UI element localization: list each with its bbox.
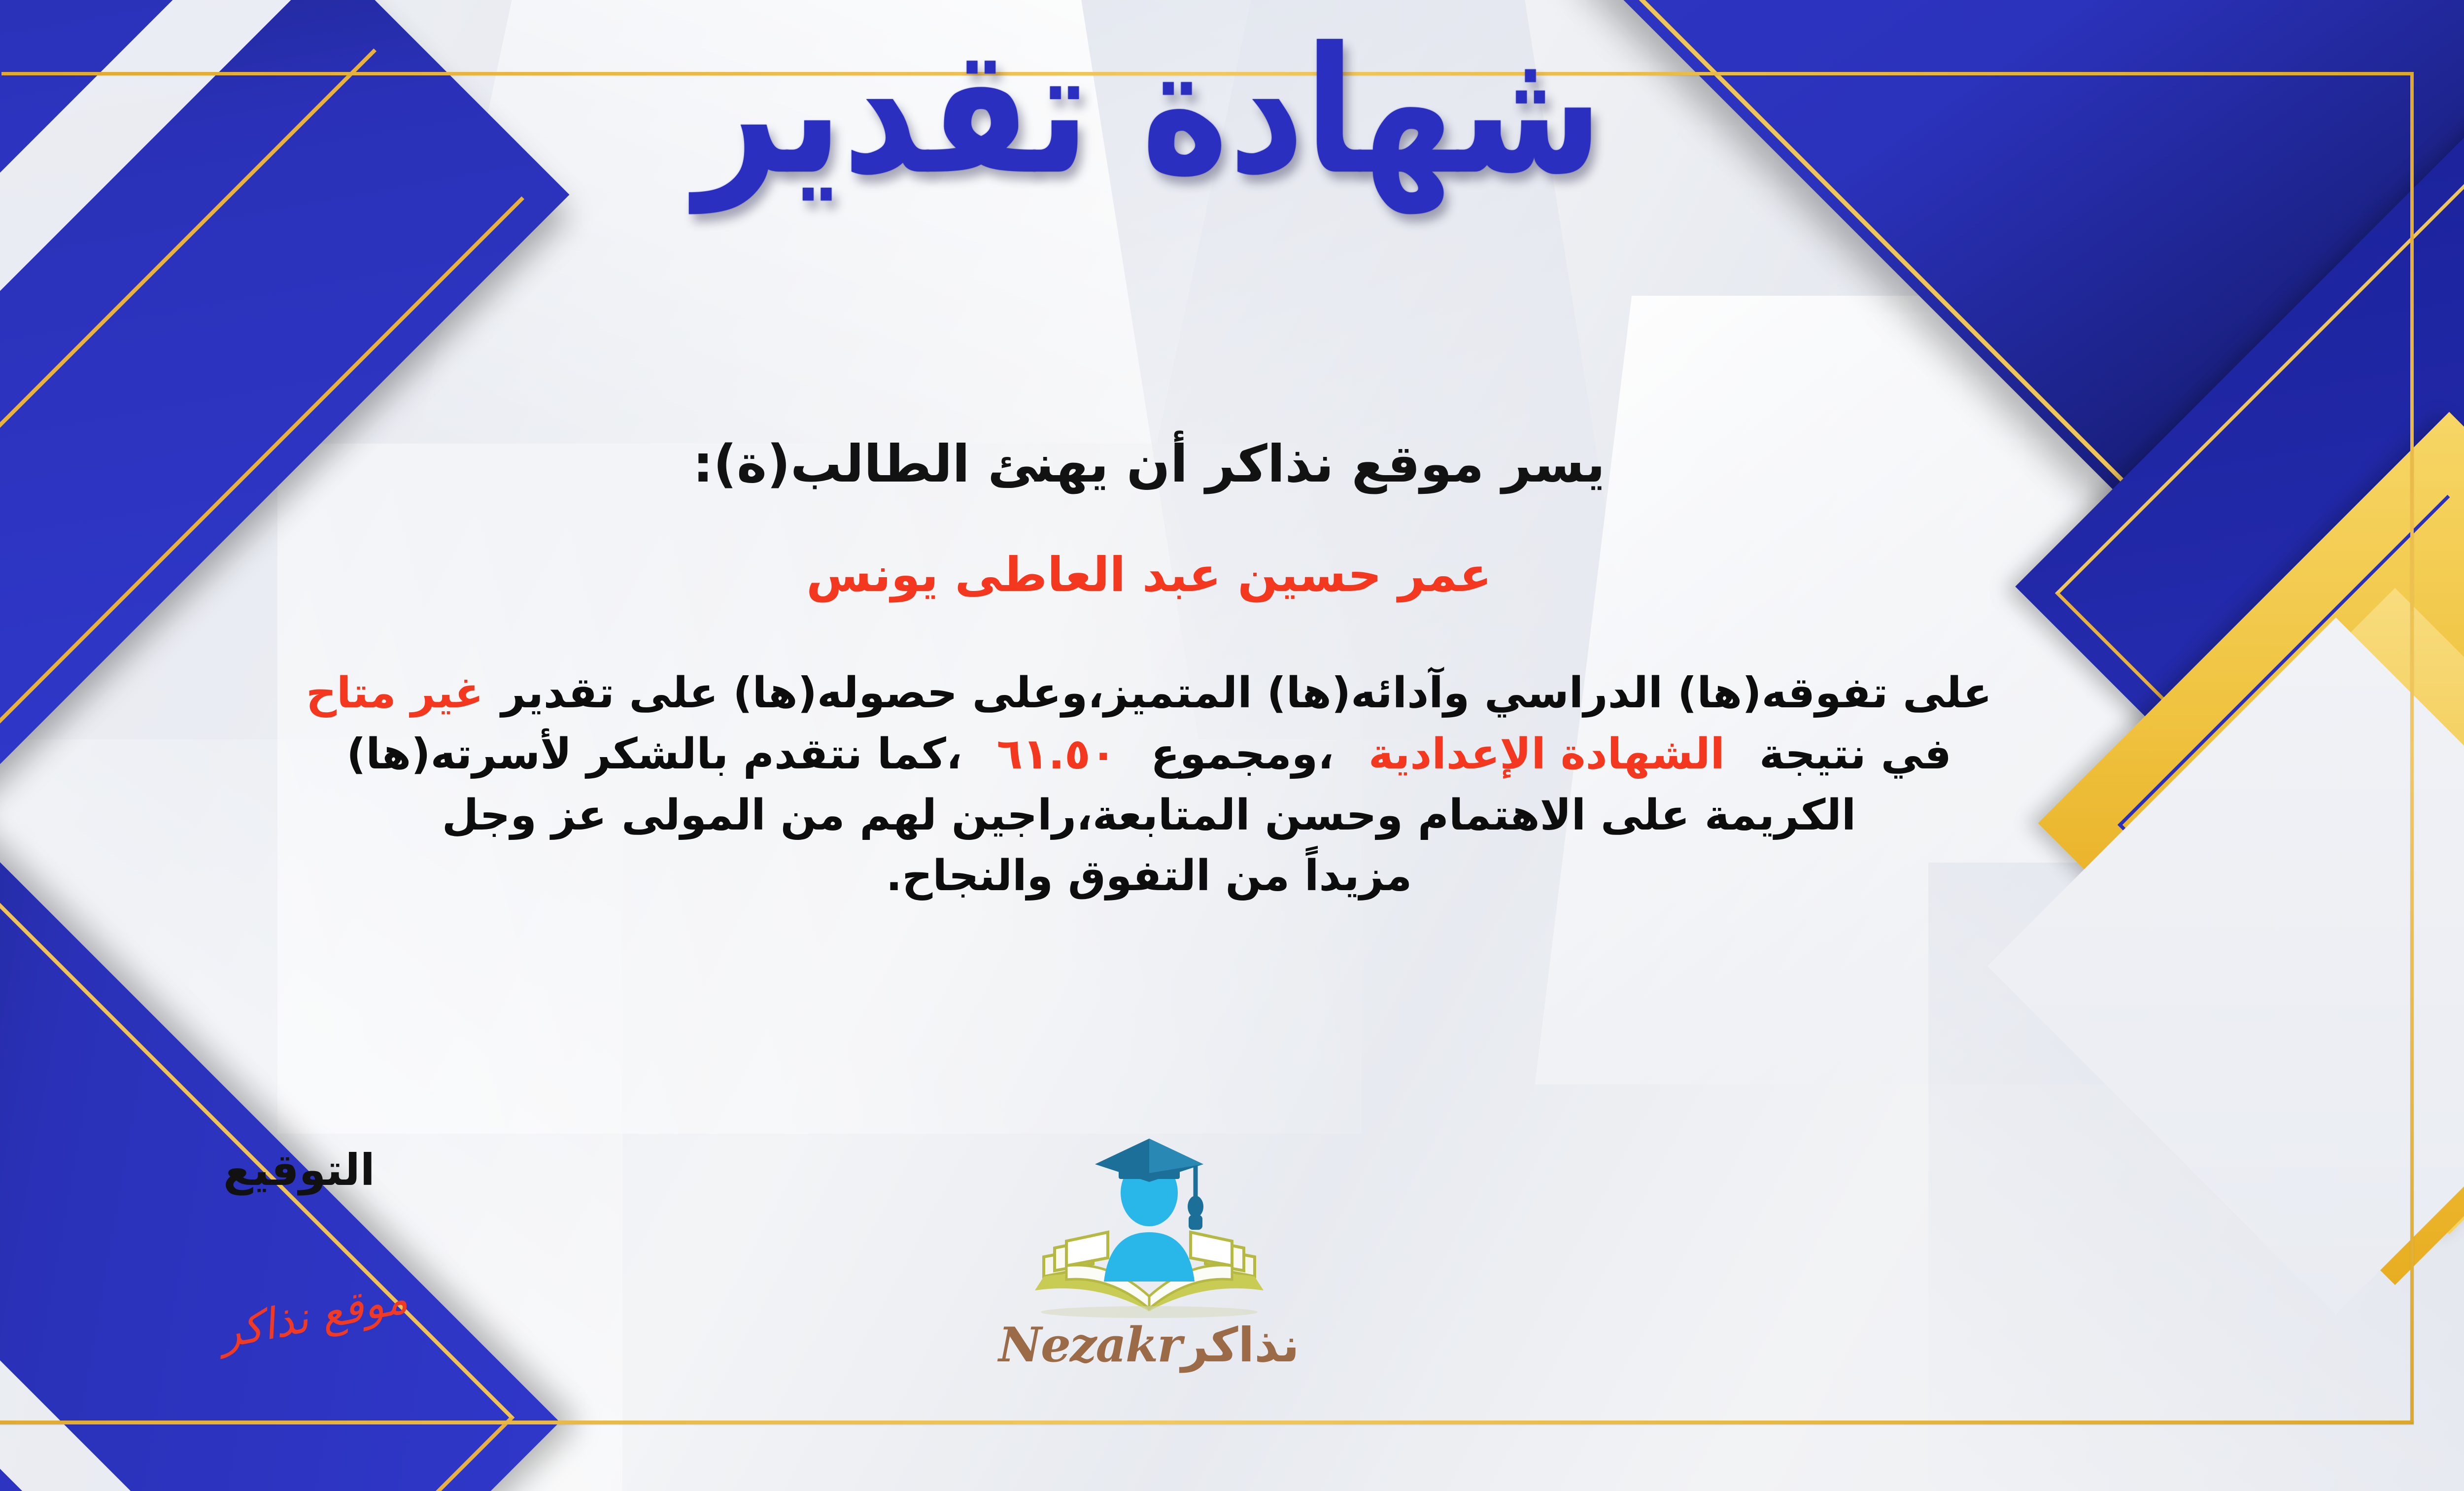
site-logo: نذاكرNezakr: [962, 1134, 1336, 1373]
body-line-thanks: الكريمة على الاهتمام وحسن المتابعة،راجين…: [0, 785, 2390, 846]
body-line-result: في نتيجةالشهادة الإعدادية،ومجموع٦١.٥٠،كم…: [0, 724, 2390, 785]
certificate-body: على تفوقه(ها) الدراسي وآدائه(ها) المتميز…: [0, 663, 2390, 907]
result-prefix-text: في نتيجة: [1759, 729, 1951, 779]
graduate-book-logo-icon: [996, 1134, 1302, 1326]
logo-wordmark: نذاكرNezakr: [962, 1317, 1336, 1373]
total-label-text: ،ومجموع: [1151, 729, 1334, 779]
thanks-prefix-text: ،كما نتقدم بالشكر لأسرته(ها): [346, 729, 962, 779]
body-line-achievement: على تفوقه(ها) الدراسي وآدائه(ها) المتميز…: [0, 663, 2390, 724]
student-name: عمر حسين عبد العاطى يونس: [0, 547, 2464, 602]
body-line-wishes: مزيداً من التفوق والنجاح.: [0, 846, 2390, 907]
achievement-text: على تفوقه(ها) الدراسي وآدائه(ها) المتميز…: [501, 668, 1992, 718]
logo-arabic-text: نذاكر: [1181, 1318, 1300, 1373]
signature-label: التوقيع: [223, 1144, 375, 1195]
total-score-value: ٦١.٥٠: [997, 729, 1117, 779]
grade-value: غير متاح: [306, 668, 483, 718]
certificate-title: شهادة تقدير: [0, 20, 2464, 203]
congratulation-intro-text: يسر موقع نذاكر أن يهنئ الطالب(ة):: [0, 434, 2464, 494]
handwritten-signature: موقع نذاكر: [215, 1274, 411, 1358]
certificate-name-value: الشهادة الإعدادية: [1369, 729, 1725, 779]
logo-latin-text: Nezakr: [998, 1317, 1181, 1373]
certificate-document: شهادة تقدير يسر موقع نذاكر أن يهنئ الطال…: [0, 0, 2464, 1491]
